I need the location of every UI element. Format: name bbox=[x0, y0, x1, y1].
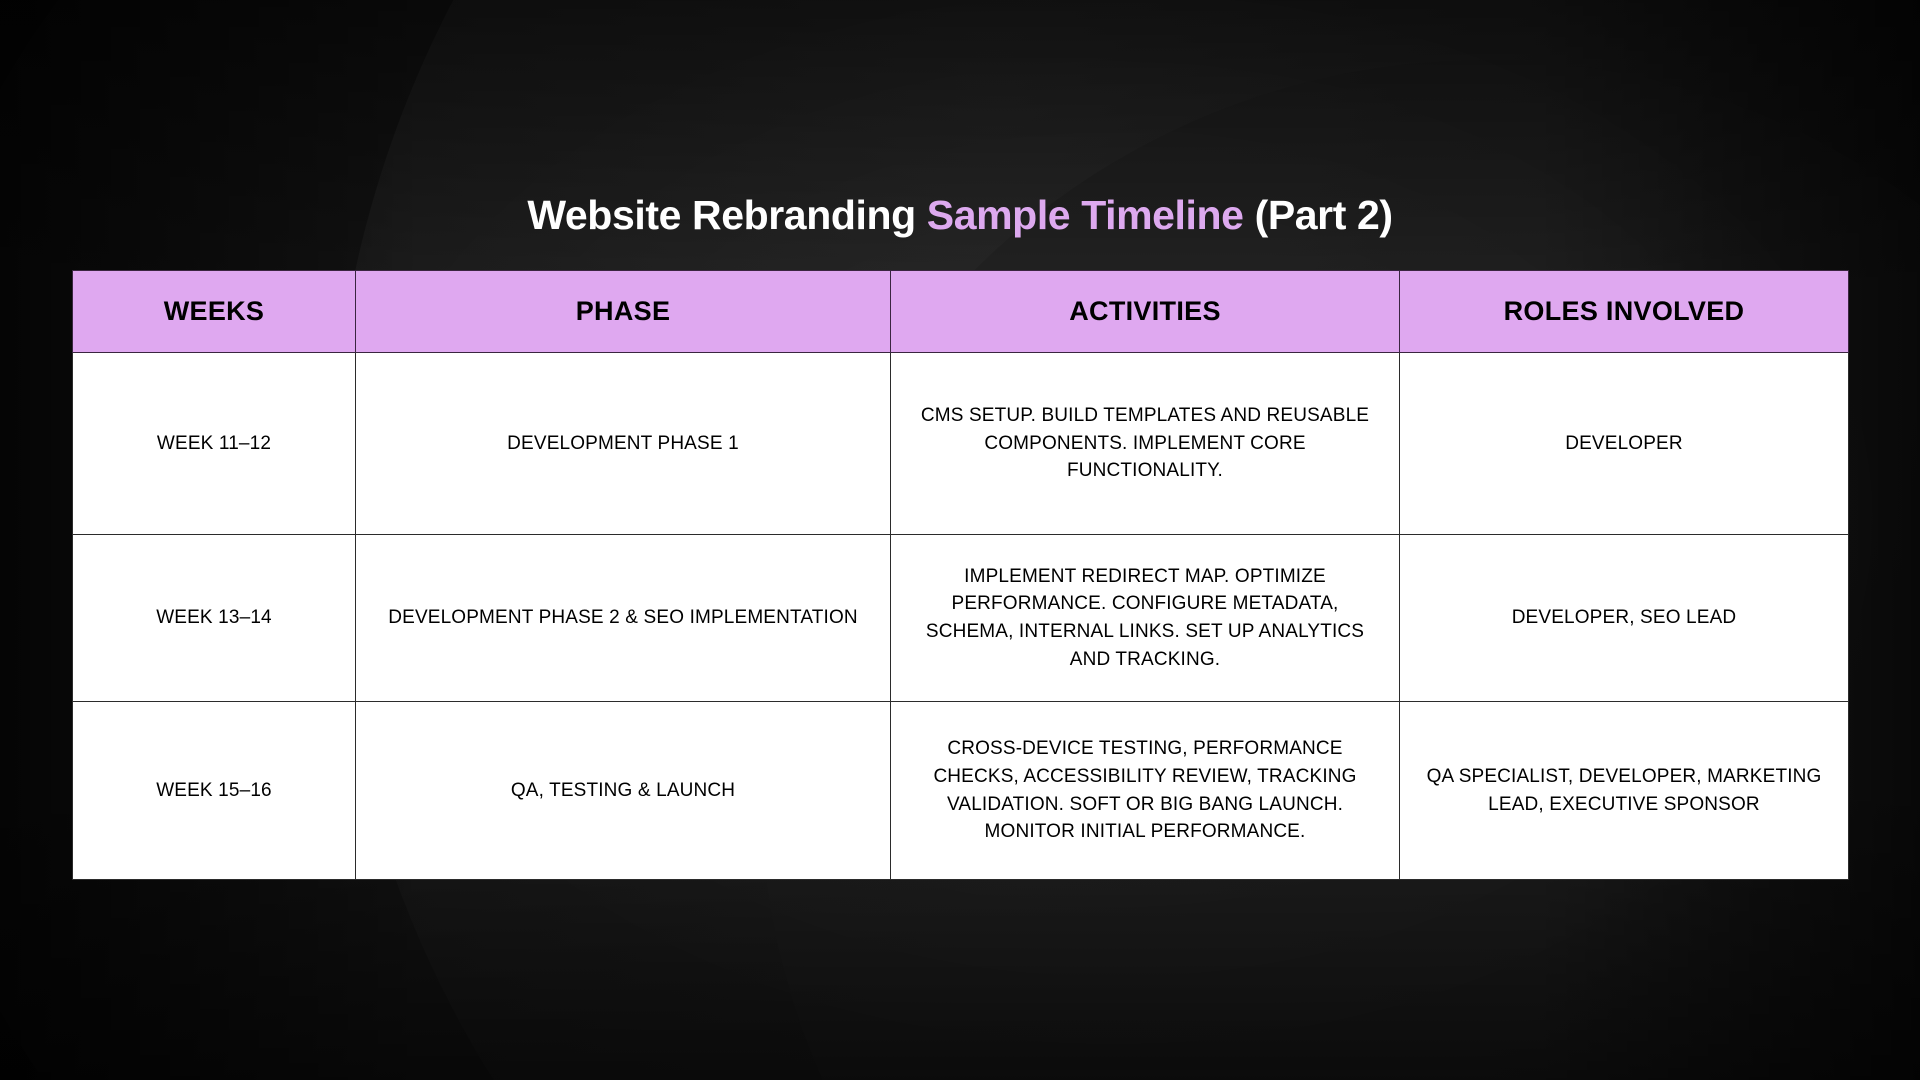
cell-weeks: WEEK 15–16 bbox=[73, 702, 356, 880]
cell-roles: QA SPECIALIST, DEVELOPER, MARKETING LEAD… bbox=[1400, 702, 1849, 880]
table-header: WEEKS PHASE ACTIVITIES ROLES INVOLVED bbox=[73, 271, 1849, 353]
cell-activities: IMPLEMENT REDIRECT MAP. OPTIMIZE PERFORM… bbox=[891, 535, 1400, 702]
column-header-roles: ROLES INVOLVED bbox=[1400, 271, 1849, 353]
cell-activities: CROSS-DEVICE TESTING, PERFORMANCE CHECKS… bbox=[891, 702, 1400, 880]
page-title-prefix: Website Rebranding bbox=[527, 192, 926, 238]
table-row: WEEK 11–12 DEVELOPMENT PHASE 1 CMS SETUP… bbox=[73, 353, 1849, 535]
table-body: WEEK 11–12 DEVELOPMENT PHASE 1 CMS SETUP… bbox=[73, 353, 1849, 880]
cell-phase: DEVELOPMENT PHASE 2 & SEO IMPLEMENTATION bbox=[356, 535, 891, 702]
timeline-table-container: WEEKS PHASE ACTIVITIES ROLES INVOLVED WE… bbox=[72, 270, 1848, 880]
page-title: Website Rebranding Sample Timeline (Part… bbox=[0, 193, 1920, 238]
slide-content: Website Rebranding Sample Timeline (Part… bbox=[0, 0, 1920, 1080]
table-header-row: WEEKS PHASE ACTIVITIES ROLES INVOLVED bbox=[73, 271, 1849, 353]
cell-roles: DEVELOPER, SEO LEAD bbox=[1400, 535, 1849, 702]
table-row: WEEK 13–14 DEVELOPMENT PHASE 2 & SEO IMP… bbox=[73, 535, 1849, 702]
table-row: WEEK 15–16 QA, TESTING & LAUNCH CROSS-DE… bbox=[73, 702, 1849, 880]
cell-weeks: WEEK 13–14 bbox=[73, 535, 356, 702]
page-title-suffix: (Part 2) bbox=[1244, 192, 1393, 238]
column-header-activities: ACTIVITIES bbox=[891, 271, 1400, 353]
column-header-phase: PHASE bbox=[356, 271, 891, 353]
column-header-weeks: WEEKS bbox=[73, 271, 356, 353]
cell-phase: QA, TESTING & LAUNCH bbox=[356, 702, 891, 880]
cell-activities: CMS SETUP. BUILD TEMPLATES AND REUSABLE … bbox=[891, 353, 1400, 535]
cell-weeks: WEEK 11–12 bbox=[73, 353, 356, 535]
cell-roles: DEVELOPER bbox=[1400, 353, 1849, 535]
cell-phase: DEVELOPMENT PHASE 1 bbox=[356, 353, 891, 535]
timeline-table: WEEKS PHASE ACTIVITIES ROLES INVOLVED WE… bbox=[72, 270, 1849, 880]
page-title-accent: Sample Timeline bbox=[927, 192, 1244, 238]
